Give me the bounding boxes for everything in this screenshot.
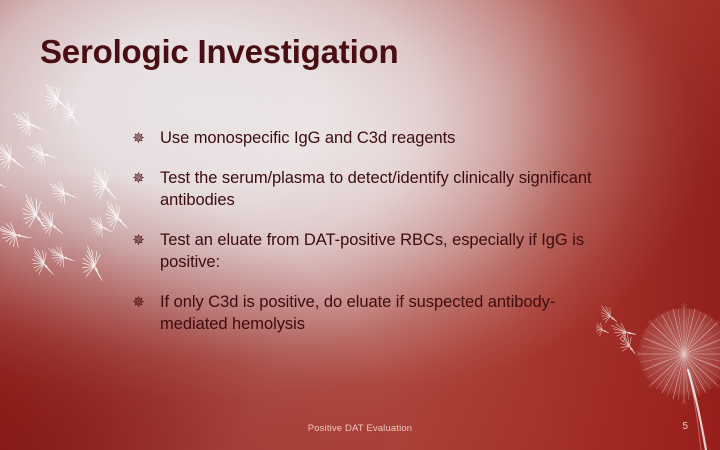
- starburst-bullet-icon: ✵: [132, 132, 145, 145]
- slide-canvas: Serologic Investigation ✵ Use monospecif…: [0, 0, 720, 450]
- bullet-item: ✵ If only C3d is positive, do eluate if …: [128, 292, 598, 336]
- starburst-bullet-icon: ✵: [132, 296, 145, 309]
- bullet-text: Use monospecific IgG and C3d reagents: [160, 128, 598, 150]
- bullet-text: Test an eluate from DAT-positive RBCs, e…: [160, 230, 598, 274]
- starburst-bullet-icon: ✵: [132, 234, 145, 247]
- starburst-bullet-icon: ✵: [132, 172, 145, 185]
- bullet-item: ✵ Test the serum/plasma to detect/identi…: [128, 168, 598, 212]
- slide-page-number: 5: [658, 421, 688, 432]
- bullet-text: Test the serum/plasma to detect/identify…: [160, 168, 598, 212]
- bullet-item: ✵ Test an eluate from DAT-positive RBCs,…: [128, 230, 598, 274]
- slide-footer: Positive DAT Evaluation: [0, 423, 720, 434]
- bullet-text: If only C3d is positive, do eluate if su…: [160, 292, 598, 336]
- bullet-item: ✵ Use monospecific IgG and C3d reagents: [128, 128, 598, 150]
- bullet-list: ✵ Use monospecific IgG and C3d reagents …: [128, 128, 598, 336]
- slide-title: Serologic Investigation: [40, 33, 660, 71]
